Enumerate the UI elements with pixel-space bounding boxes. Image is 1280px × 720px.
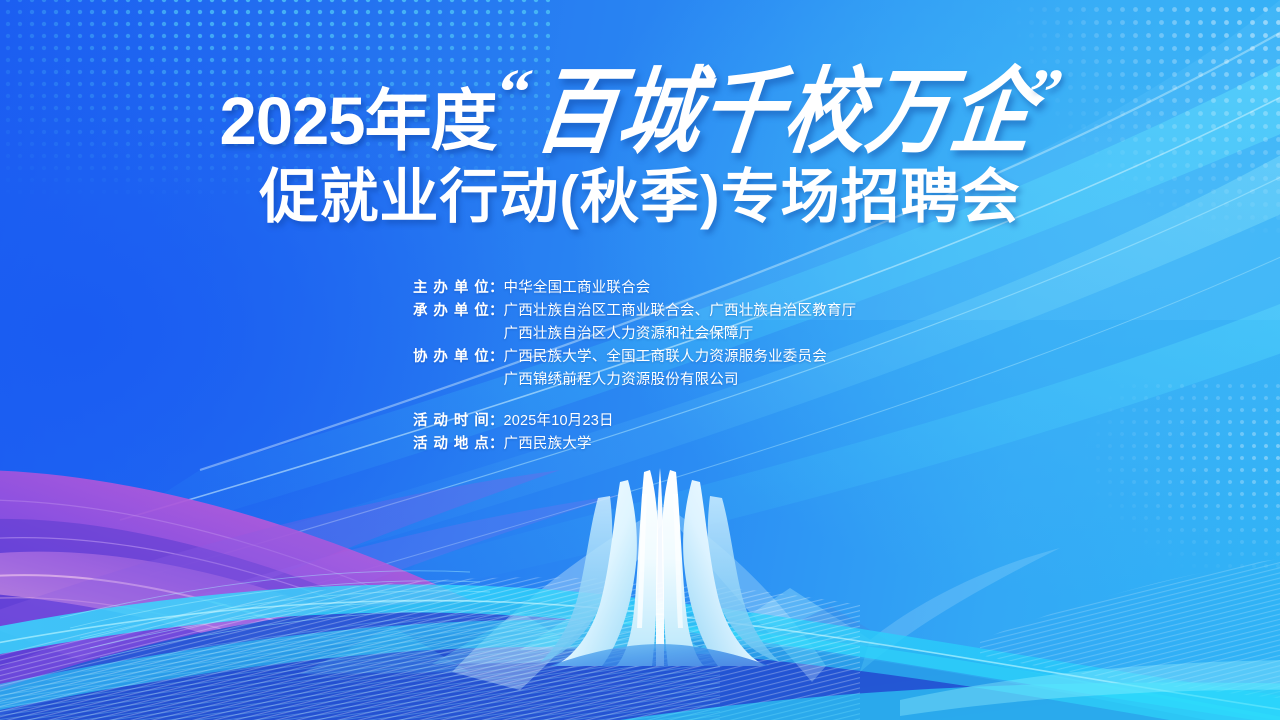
info-colon: ： — [489, 304, 504, 319]
info-spacer — [413, 396, 856, 414]
info-colon: ： — [489, 414, 504, 429]
title-year: 2025年度 — [219, 88, 496, 155]
info-label: 活动时间 — [413, 414, 489, 429]
info-row-organizer: 主办单位 ： 中华全国工商业联合会 — [413, 281, 856, 304]
info-label: 承办单位 — [413, 304, 489, 319]
info-label: 活动地点 — [413, 437, 489, 452]
info-row-datetime: 活动时间 ： 2025年10月23日 — [413, 414, 856, 437]
info-value: 广西壮族自治区工商业联合会、广西壮族自治区教育厅 — [504, 304, 857, 319]
info-row-venue: 活动地点 ： 广西民族大学 — [413, 437, 856, 460]
info-row-cohost-cont: 协办单位 ： 广西锦绣前程人力资源股份有限公司 — [413, 373, 856, 396]
info-label: 协办单位 — [413, 350, 489, 365]
info-value: 中华全国工商业联合会 — [504, 281, 651, 296]
info-colon: ： — [489, 350, 504, 365]
info-value: 广西民族大学、全国工商联人力资源服务业委员会 — [504, 350, 827, 365]
event-info-block: 主办单位 ： 中华全国工商业联合会 承办单位 ： 广西壮族自治区工商业联合会、广… — [413, 281, 856, 460]
info-row-host: 承办单位 ： 广西壮族自治区工商业联合会、广西壮族自治区教育厅 — [413, 304, 856, 327]
poster-canvas: 2025年度 “ 百城千校万企 ” 促就业行动(秋季)专场招聘会 主办单位 ： … — [0, 0, 1280, 720]
info-value: 广西壮族自治区人力资源和社会保障厅 — [504, 327, 754, 342]
info-row-host-cont: 承办单位 ： 广西壮族自治区人力资源和社会保障厅 — [413, 327, 856, 350]
info-label: 主办单位 — [413, 281, 489, 296]
info-colon: ： — [489, 281, 504, 296]
info-row-cohost: 协办单位 ： 广西民族大学、全国工商联人力资源服务业委员会 — [413, 350, 856, 373]
info-value: 广西锦绣前程人力资源股份有限公司 — [504, 373, 739, 388]
poster-title: 2025年度 “ 百城千校万企 ” 促就业行动(秋季)专场招聘会 — [0, 62, 1280, 230]
info-colon: ： — [489, 437, 504, 452]
halftone-dots-rightmid — [1020, 380, 1280, 570]
title-line-2: 促就业行动(秋季)专场招聘会 — [0, 164, 1280, 230]
nanning-landmark-icon — [524, 468, 796, 668]
title-quote-open: “ — [490, 60, 537, 126]
title-calligraphy: 百城千校万企 — [528, 67, 1041, 160]
title-line-1: 2025年度 “ 百城千校万企 ” — [0, 62, 1280, 158]
info-value: 2025年10月23日 — [504, 414, 614, 429]
info-value: 广西民族大学 — [504, 437, 592, 452]
